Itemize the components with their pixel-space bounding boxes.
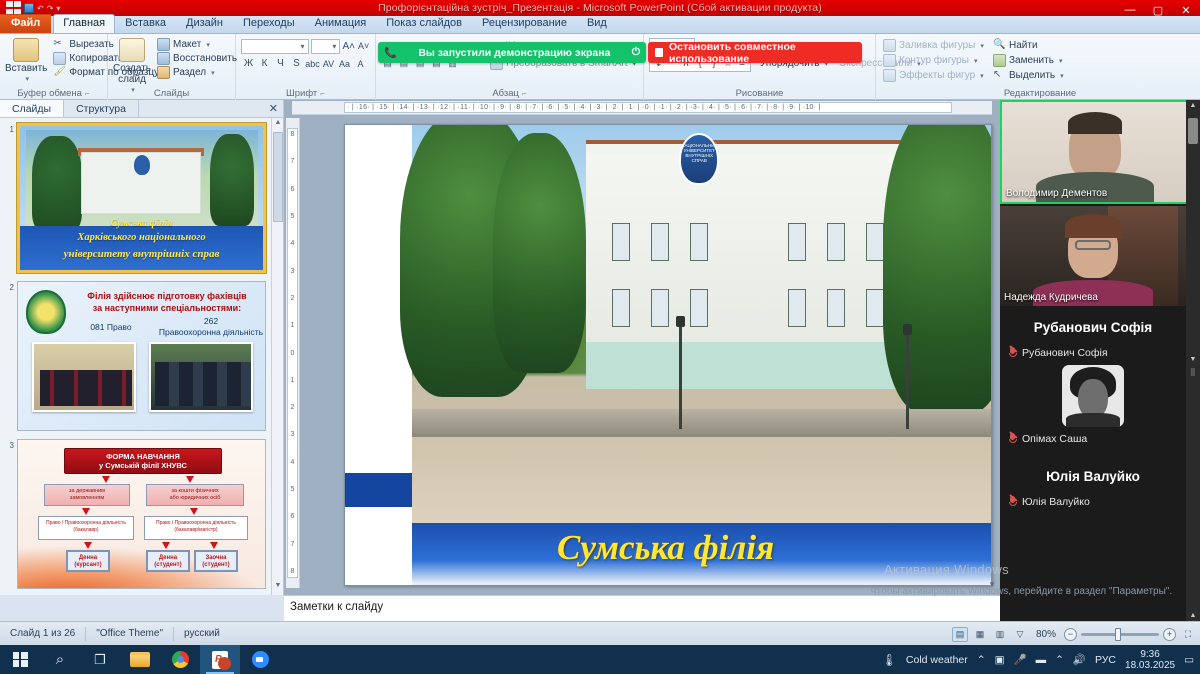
thumb3-box-r3c2: Денна (студент): [146, 550, 190, 572]
battery-icon[interactable]: ▬: [1036, 654, 1047, 666]
slide-number: 2: [6, 281, 14, 431]
flow-arrow: [84, 542, 92, 549]
redo-icon[interactable]: ↷: [47, 4, 54, 13]
status-theme[interactable]: "Office Theme": [86, 627, 174, 641]
participant-name: Опімах Саша: [1022, 433, 1087, 445]
start-button[interactable]: [0, 645, 40, 674]
thumbnail-row[interactable]: 2 Філія здійснює підготовку фахівців за …: [6, 281, 266, 431]
slide-title-line1: Сумська філія: [557, 528, 774, 568]
volume-icon[interactable]: 🔊: [1073, 653, 1086, 666]
tab-insert[interactable]: Вставка: [115, 14, 176, 33]
participant-headline-1: Рубанович Софія: [1000, 320, 1186, 335]
scroll-up-icon[interactable]: ▲: [273, 119, 283, 131]
phone-icon: 📞: [384, 46, 397, 59]
dialog-launcher-icon[interactable]: ⌐: [85, 89, 90, 98]
camera-icon[interactable]: ▣: [995, 654, 1005, 666]
participant-hair: [1065, 214, 1121, 238]
tree: [883, 124, 992, 413]
flow-arrow: [102, 476, 110, 483]
file-explorer-button[interactable]: [120, 645, 160, 674]
reset-button[interactable]: Восстановить: [155, 52, 239, 65]
task-view-button[interactable]: ❐: [80, 645, 120, 674]
slide-thumbnail-3[interactable]: ФОРМА НАВЧАННЯ у Сумській філії ХНУВС за…: [17, 439, 266, 589]
group-label-slides: Слайды: [108, 88, 235, 99]
shape-effects-icon: [883, 69, 896, 82]
crest-icon: [134, 155, 150, 175]
slide-thumbnail-list[interactable]: 1 Сумська філія Харківського національно…: [0, 118, 272, 595]
customize-qat-icon[interactable]: ▾: [56, 4, 60, 13]
video-tile-speaker[interactable]: Володимир Дементов: [1000, 100, 1190, 204]
flow-arrow: [162, 542, 170, 549]
thumb3-box-r2c1: Право / Правоохоронна діяльність (бакала…: [38, 516, 134, 540]
current-slide[interactable]: НАЦІОНАЛЬНИЙ УНІВЕРСИТЕТ ВНУТРІШНІХ СПРА…: [344, 124, 992, 586]
fit-slide-button[interactable]: ⛶: [1180, 627, 1196, 642]
task-view-icon: ❐: [94, 652, 106, 668]
thumb3-header: ФОРМА НАВЧАННЯ у Сумській філії ХНУВС: [64, 448, 222, 474]
participant-row-2[interactable]: Опімах Саша: [1000, 431, 1186, 447]
paste-button[interactable]: Вставить ▾: [5, 36, 47, 85]
weather-icon: 🌡: [882, 653, 897, 667]
plaza-ground: [412, 437, 992, 525]
thumb3-box-r1c1: за державним замовленням: [44, 484, 130, 506]
ribbon-group-editing: 🔍 Найти Заменить▾ ↖ Выделить▾ Редактиров…: [986, 34, 1094, 100]
roof: [586, 140, 911, 154]
thumb2-heading: Філія здійснює підготовку фахівців за на…: [70, 290, 264, 314]
underline-button[interactable]: Ч: [273, 56, 288, 71]
slide-pane-scrollbar[interactable]: ▲ ▼: [271, 118, 283, 595]
close-pane-icon[interactable]: ✕: [269, 102, 278, 115]
scissors-icon: ✂: [53, 38, 66, 51]
lamp-post: [906, 333, 909, 429]
quick-access-toolbar[interactable]: ↶ ↷ ▾: [2, 1, 64, 15]
slide-left-strip: [345, 125, 412, 585]
reading-view-button[interactable]: ▥: [992, 627, 1008, 642]
chrome-icon: [172, 651, 189, 668]
status-language[interactable]: русский: [174, 627, 230, 641]
bold-button[interactable]: Ж: [241, 56, 256, 71]
thumb1-photo: [26, 130, 258, 230]
participant-hair: [1068, 112, 1122, 134]
slide-blue-accent: [345, 473, 413, 507]
screen-share-banner[interactable]: 📞 Вы запустили демонстрацию экрана ⏻: [378, 42, 646, 63]
normal-view-button[interactable]: ▤: [952, 627, 968, 642]
window-title: Профорієнтаційна зустріч_Презентація - M…: [378, 2, 822, 14]
scroll-down-icon[interactable]: ▼: [1189, 356, 1197, 363]
section-button[interactable]: Раздел ▾: [155, 66, 239, 79]
university-building: [586, 149, 911, 389]
show-hidden-icons-button[interactable]: ⌃: [977, 654, 986, 666]
microphone-icon[interactable]: 🎤: [1014, 653, 1027, 666]
mic-off-icon: [1008, 496, 1017, 508]
zoom-video-panel: Володимир Дементов Надежда Кудричева Руб…: [1000, 100, 1200, 621]
participant-headline-2: Юлія Валуйко: [1000, 469, 1186, 484]
slideshow-button[interactable]: ▽: [1012, 627, 1028, 642]
cursor-select-icon: ↖: [993, 69, 1006, 82]
scroll-bottom-icon[interactable]: ▲: [1189, 612, 1197, 619]
paste-icon: [13, 38, 39, 62]
clock[interactable]: 9:36 18.03.2025: [1125, 649, 1175, 671]
thumb3-box-r1c2: за кошти фізичних або юридичних осіб: [146, 484, 244, 506]
zoom-icon: [252, 651, 269, 668]
slide-number: 1: [6, 123, 14, 273]
status-slide-count[interactable]: Слайд 1 из 26: [0, 627, 86, 641]
group-label-editing: Редактирование: [986, 88, 1094, 99]
crest-text: НАЦІОНАЛЬНИЙ УНІВЕРСИТЕТ ВНУТРІШНІХ СПРА…: [681, 143, 717, 163]
ribbon-group-font: ▾ ▾ A˄ A˅ Ж К Ч S abc AV Aa A Шрифт⌐: [236, 34, 376, 100]
zoom-button[interactable]: [240, 645, 280, 674]
replace-icon: [993, 54, 1006, 67]
lamp-post: [679, 325, 682, 429]
tab-outline[interactable]: Структура: [64, 100, 139, 117]
slide-navigation-pane: Слайды Структура ✕ 1 Сумська філія: [0, 100, 284, 595]
participant-list: Рубанович Софія Рубанович Софія Опімах С…: [1000, 320, 1186, 510]
slide-thumbnail-2[interactable]: Філія здійснює підготовку фахівців за на…: [17, 281, 266, 431]
scrollbar-thumb[interactable]: [273, 132, 283, 222]
wifi-icon[interactable]: ⌃: [1055, 654, 1064, 666]
ribbon-group-clipboard: Вставить ▾ ✂ Вырезать Копировать ▾ 🖌: [0, 34, 108, 100]
slide-thumbnail-1[interactable]: Сумська філія Харківського національного…: [17, 123, 266, 273]
new-slide-icon: [119, 38, 145, 62]
police-emblem-icon: [26, 290, 66, 334]
zoom-slider[interactable]: [1081, 633, 1159, 636]
save-icon[interactable]: [24, 3, 34, 13]
university-crest-icon: НАЦІОНАЛЬНИЙ УНІВЕРСИТЕТ ВНУТРІШНІХ СПРА…: [679, 133, 719, 185]
group-label-font: Шрифт⌐: [236, 88, 375, 99]
windows-activation-watermark-text: Чтобы активировать Windows, перейдите в …: [870, 586, 1172, 597]
participant-row-1[interactable]: Рубанович Софія: [1000, 345, 1186, 361]
mic-off-icon: [1008, 433, 1017, 445]
strikethrough-button[interactable]: abc: [305, 56, 320, 71]
stop-square-icon: [655, 48, 663, 57]
stop-sharing-label: Остановить совместное использование: [669, 41, 855, 65]
layout-button[interactable]: Макет ▾: [155, 38, 239, 51]
campus-building-photo: НАЦІОНАЛЬНИЙ УНІВЕРСИТЕТ ВНУТРІШНІХ СПРА…: [412, 125, 992, 525]
horizontal-ruler-ticks: · | ·16· | ·15· | ·14· | ·13· | ·12· | ·…: [344, 102, 952, 113]
weather-label[interactable]: Cold weather: [906, 654, 968, 666]
tab-slides[interactable]: Слайды: [0, 100, 64, 117]
font-name-combobox[interactable]: ▾: [241, 39, 309, 54]
stop-sharing-button[interactable]: Остановить совместное использование: [648, 42, 862, 63]
graduates-photo: [32, 342, 136, 412]
folder-icon: [130, 652, 150, 667]
notifications-icon[interactable]: ▭: [1184, 654, 1194, 666]
flow-arrow: [210, 542, 218, 549]
shape-fill-button[interactable]: Заливка фигуры▾: [881, 39, 981, 52]
thumbnail-row[interactable]: 1 Сумська філія Харківського національно…: [6, 123, 266, 273]
find-button[interactable]: 🔍 Найти: [991, 39, 1089, 52]
glasses-icon: [1075, 240, 1111, 250]
change-case-button[interactable]: Aa: [337, 56, 352, 71]
flow-arrow: [190, 508, 198, 515]
participant-name: Рубанович Софія: [1022, 347, 1108, 359]
chevron-down-icon[interactable]: ▾: [211, 69, 215, 77]
vertical-ruler-ticks: 87654321 012345678: [287, 128, 298, 578]
clock-date: 18.03.2025: [1125, 660, 1175, 671]
windows-icon: [13, 652, 28, 667]
group-label-drawing: Рисование: [644, 88, 875, 99]
ribbon-group-shape-styles: Заливка фигуры▾ Контур фигуры▾ Эффекты ф…: [876, 34, 986, 100]
scroll-handle-icon[interactable]: ⣿: [1189, 368, 1197, 376]
paintbrush-icon: 🖌: [53, 66, 66, 79]
language-indicator[interactable]: РУС: [1095, 654, 1116, 666]
reset-icon: [157, 52, 170, 65]
powerpoint-icon: P: [212, 651, 228, 669]
status-bar: Слайд 1 из 26 "Office Theme" русский ▤ ▦…: [0, 621, 1200, 645]
tab-transitions[interactable]: Переходы: [233, 14, 305, 33]
windows-taskbar[interactable]: ⌕ ❐ P 🌡 Cold weather ⌃ ▣: [0, 645, 1200, 674]
flow-arrow: [82, 508, 90, 515]
slide-canvas: НАЦІОНАЛЬНИЙ УНІВЕРСИТЕТ ВНУТРІШНІХ СПРА…: [345, 125, 991, 585]
scrollbar-thumb[interactable]: [1188, 118, 1198, 144]
increase-font-size-button[interactable]: A˄: [342, 39, 355, 54]
slide-pane-tabs[interactable]: Слайды Структура ✕: [0, 100, 283, 118]
character-spacing-button[interactable]: AV: [321, 56, 336, 71]
new-slide-button[interactable]: Создать слайд ▾: [113, 36, 151, 96]
share-banner-label: Вы запустили демонстрацию экрана: [397, 47, 632, 59]
binoculars-icon: 🔍: [993, 39, 1006, 52]
zoom-in-button[interactable]: +: [1163, 628, 1176, 641]
video-panel-scrollbar[interactable]: ▲ ▼ ⣿ ▲: [1186, 100, 1200, 621]
section-icon: [157, 66, 170, 79]
slide-sorter-button[interactable]: ▦: [972, 627, 988, 642]
tab-design[interactable]: Дизайн: [176, 14, 233, 33]
participant-name-label: Володимир Дементов: [1006, 188, 1107, 199]
share-shield-icon[interactable]: ⏻: [632, 46, 640, 59]
zoom-out-button[interactable]: −: [1064, 628, 1077, 641]
text-shadow-button[interactable]: S: [289, 56, 304, 71]
windows-activation-watermark-title: Активация Windows: [884, 562, 1009, 577]
horizontal-ruler: · | ·16· | ·15· | ·14· | ·13· | ·12· | ·…: [292, 101, 992, 115]
video-tile-participant[interactable]: Надежда Кудричева: [1000, 206, 1186, 306]
scroll-up-icon[interactable]: ▲: [1189, 102, 1197, 109]
participant-avatar: [1062, 365, 1124, 427]
thumb3-box-r3c1: Денна (курсант): [66, 550, 110, 572]
status-view-controls[interactable]: ▤ ▦ ▥ ▽ 80% − + ⛶: [952, 622, 1196, 646]
notes-pane[interactable]: ▼ Заметки к слайду: [284, 595, 1000, 621]
participant-row-3[interactable]: Юлія Валуйко: [1000, 494, 1186, 510]
vertical-ruler: 87654321 012345678: [286, 118, 300, 588]
shape-outline-icon: [883, 54, 896, 67]
dialog-launcher-icon[interactable]: ⌐: [320, 89, 325, 98]
thumb3-box-r3c3: Заочна (студент): [194, 550, 238, 572]
ribbon-tab-bar[interactable]: Файл Главная Вставка Дизайн Переходы Ани…: [0, 16, 1200, 34]
undo-icon[interactable]: ↶: [37, 4, 44, 13]
thumb1-title-line2: Харківського національного: [20, 232, 263, 243]
tab-home[interactable]: Главная: [53, 14, 115, 33]
italic-button[interactable]: К: [257, 56, 272, 71]
zoom-level-label[interactable]: 80%: [1036, 629, 1056, 640]
shape-effects-button[interactable]: Эффекты фигур▾: [881, 69, 981, 82]
search-button[interactable]: ⌕: [40, 645, 80, 674]
building-base: [586, 342, 911, 389]
replace-button[interactable]: Заменить▾: [991, 54, 1089, 67]
font-size-combobox[interactable]: ▾: [311, 39, 341, 54]
dialog-launcher-icon[interactable]: ⌐: [522, 89, 527, 98]
zoom-slider-knob[interactable]: [1115, 628, 1121, 641]
layout-icon: [157, 38, 170, 51]
participant-name: Юлія Валуйко: [1022, 496, 1090, 508]
group-label-clipboard: Буфер обмена⌐: [0, 88, 107, 99]
thumb1-title-line1: Сумська філія: [20, 218, 263, 229]
thumb1-title-line3: університету внутрішніх справ: [20, 248, 263, 260]
thumb2-spec1: 081 Право: [66, 322, 156, 332]
tab-view[interactable]: Вид: [577, 14, 617, 33]
tab-slideshow[interactable]: Показ слайдов: [376, 14, 472, 33]
chevron-down-icon[interactable]: ▾: [25, 74, 29, 85]
slide-number: 3: [6, 439, 14, 589]
chevron-down-icon[interactable]: ▾: [206, 41, 210, 49]
cadets-photo: [149, 342, 253, 412]
shape-outline-button[interactable]: Контур фигуры▾: [881, 54, 981, 67]
select-button[interactable]: ↖ Выделить▾: [991, 69, 1089, 82]
scroll-down-icon[interactable]: ▼: [273, 582, 283, 594]
clock-time: 9:36: [1125, 649, 1175, 660]
search-icon: ⌕: [56, 651, 64, 668]
thumbnail-row[interactable]: 3 ФОРМА НАВЧАННЯ у Сумській філії ХНУВС …: [6, 439, 266, 589]
copy-icon: [53, 52, 66, 65]
tree: [493, 133, 586, 373]
chrome-button[interactable]: [160, 645, 200, 674]
notes-placeholder[interactable]: Заметки к слайду: [290, 601, 383, 613]
flow-arrow: [186, 476, 194, 483]
thumb3-box-r2c2: Право / Правоохоронна діяльність (бакала…: [144, 516, 248, 540]
powerpoint-button[interactable]: P: [200, 645, 240, 674]
tab-animation[interactable]: Анимация: [305, 14, 377, 33]
participant-name-label: Надежда Кудричева: [1004, 292, 1098, 303]
system-tray[interactable]: 🌡 Cold weather ⌃ ▣ 🎤 ▬ ⌃ 🔊 РУС 9:36 18.0…: [882, 645, 1200, 674]
thumb2-spec2: 262 Правоохоронна діяльність: [158, 316, 264, 338]
ribbon-group-slides: Создать слайд ▾ Макет ▾ Восстановить: [108, 34, 236, 100]
tree-decoration: [210, 134, 254, 226]
group-label-paragraph: Абзац⌐: [376, 88, 643, 99]
tab-file[interactable]: Файл: [0, 14, 51, 33]
decrease-font-size-button[interactable]: A˅: [357, 39, 370, 54]
font-color-button[interactable]: A: [353, 56, 368, 71]
mic-off-icon: [1008, 347, 1017, 359]
tab-review[interactable]: Рецензирование: [472, 14, 577, 33]
shape-fill-icon: [883, 39, 896, 52]
